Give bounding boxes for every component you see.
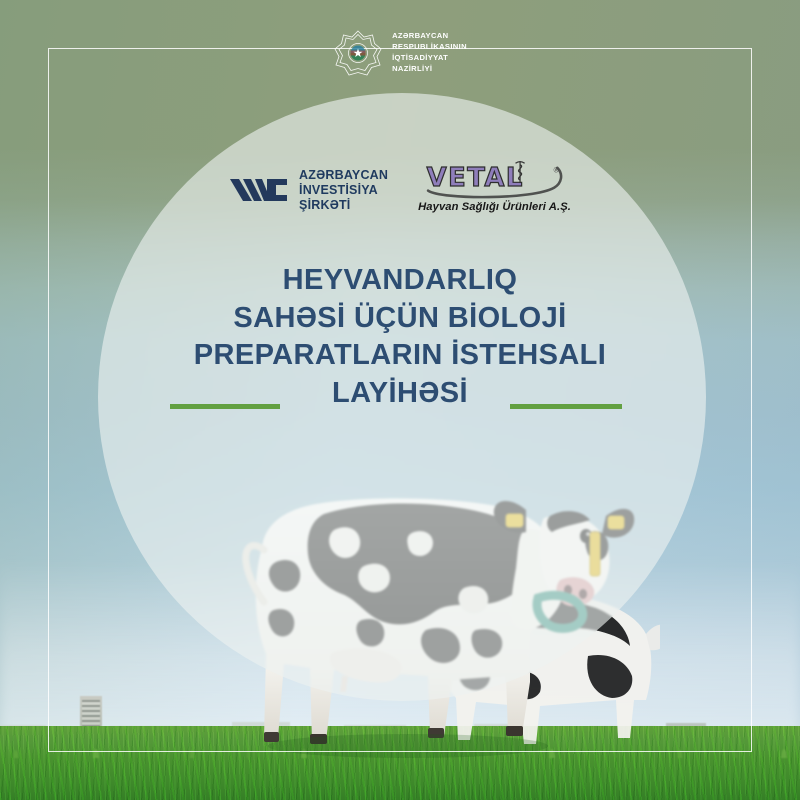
vetal-logo: VETAL ® Hayvan Sağlığı Ürünleri A.Ş.: [418, 158, 571, 213]
aic-line-2: İNVESTİSİYA: [299, 183, 388, 198]
aic-line-1: AZƏRBAYCAN: [299, 168, 388, 183]
ministry-line-1: AZƏRBAYCAN: [392, 31, 467, 42]
headline-block: HEYVANDARLIQ SAHƏSİ ÜÇÜN BİOLOJİ PREPARA…: [120, 262, 680, 413]
aic-logo: AZƏRBAYCAN İNVESTİSİYA ŞİRKƏTİ: [229, 158, 388, 212]
azerbaijan-ministry-emblem-icon: [333, 28, 383, 78]
registered-mark: ®: [552, 166, 559, 174]
accent-rule-left: [170, 404, 280, 409]
ministry-line-4: NAZİRLİYİ: [392, 64, 467, 75]
ministry-name-block: AZƏRBAYCAN RESPUBLİKASININ İQTİSADİYYAT …: [392, 31, 467, 74]
aic-name-block: AZƏRBAYCAN İNVESTİSİYA ŞİRKƏTİ: [299, 168, 388, 212]
headline-line-1: HEYVANDARLIQ: [120, 262, 680, 300]
ministry-line-3: İQTİSADİYYAT: [392, 53, 467, 64]
svg-text:VETAL: VETAL: [426, 163, 523, 193]
headline-line-2: SAHƏSİ ÜÇÜN BİOLOJİ: [120, 300, 680, 338]
headline-line-3: PREPARATLARIN İSTEHSALI: [120, 337, 680, 375]
aic-line-3: ŞİRKƏTİ: [299, 198, 388, 213]
ministry-line-2: RESPUBLİKASININ: [392, 42, 467, 53]
vetal-tagline: Hayvan Sağlığı Ürünleri A.Ş.: [418, 201, 571, 213]
ministry-header: AZƏRBAYCAN RESPUBLİKASININ İQTİSADİYYAT …: [0, 24, 800, 82]
aic-logo-mark-icon: [229, 175, 289, 205]
partner-logos-row: AZƏRBAYCAN İNVESTİSİYA ŞİRKƏTİ VETAL: [0, 158, 800, 234]
vetal-wordmark-icon: VETAL ®: [419, 160, 571, 200]
poster-canvas: AZƏRBAYCAN RESPUBLİKASININ İQTİSADİYYAT …: [0, 0, 800, 800]
accent-rule-right: [510, 404, 622, 409]
